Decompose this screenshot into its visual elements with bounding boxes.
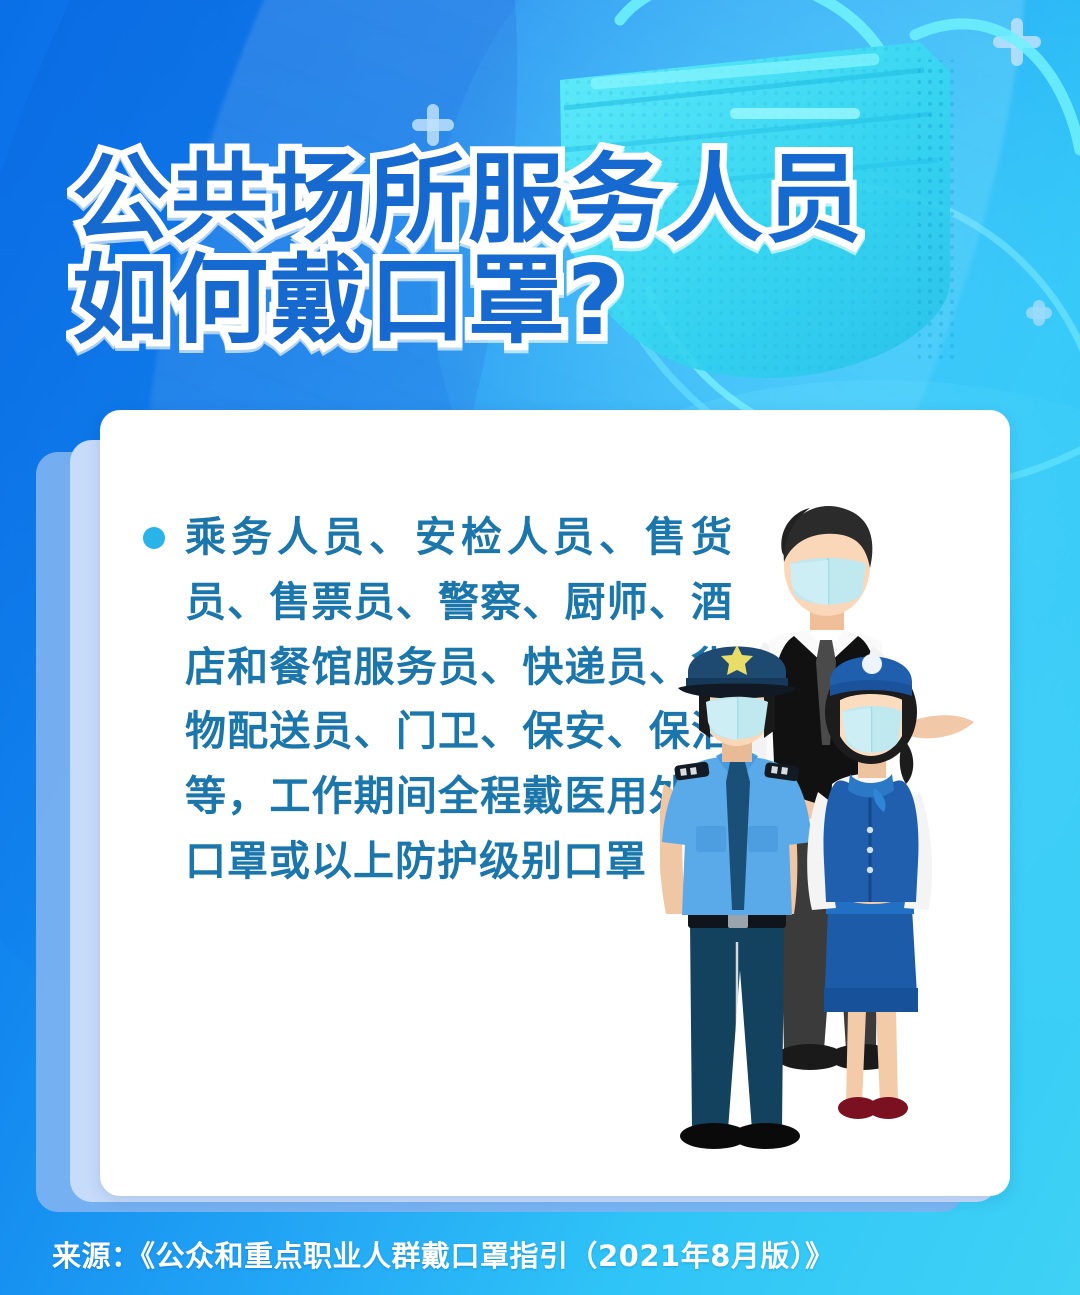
title-line-1: 公共场所服务人员 bbox=[72, 150, 952, 251]
page-title: 公共场所服务人员 如何戴口罩? bbox=[72, 150, 952, 352]
bullet-text: 乘务人员、安检人员、售货员、售票员、警察、厨师、酒店和餐馆服务员、快递员、货物配… bbox=[185, 505, 733, 894]
bullet-dot-icon bbox=[143, 527, 165, 549]
title-line-2: 如何戴口罩? bbox=[72, 251, 952, 352]
plus-icon bbox=[412, 104, 454, 146]
poster-root: 公共场所服务人员 如何戴口罩? 乘务人员、安检人员、售货员、售票员、警察、厨师、… bbox=[0, 0, 1080, 1295]
list-item: 乘务人员、安检人员、售货员、售票员、警察、厨师、酒店和餐馆服务员、快递员、货物配… bbox=[143, 505, 733, 894]
source-note: 来源：《公众和重点职业人群戴口罩指引（2021年8月版）》 bbox=[52, 1233, 834, 1275]
content-card: 乘务人员、安检人员、售货员、售票员、警察、厨师、酒店和餐馆服务员、快递员、货物配… bbox=[100, 410, 1010, 1196]
people-illustration bbox=[660, 490, 990, 1190]
